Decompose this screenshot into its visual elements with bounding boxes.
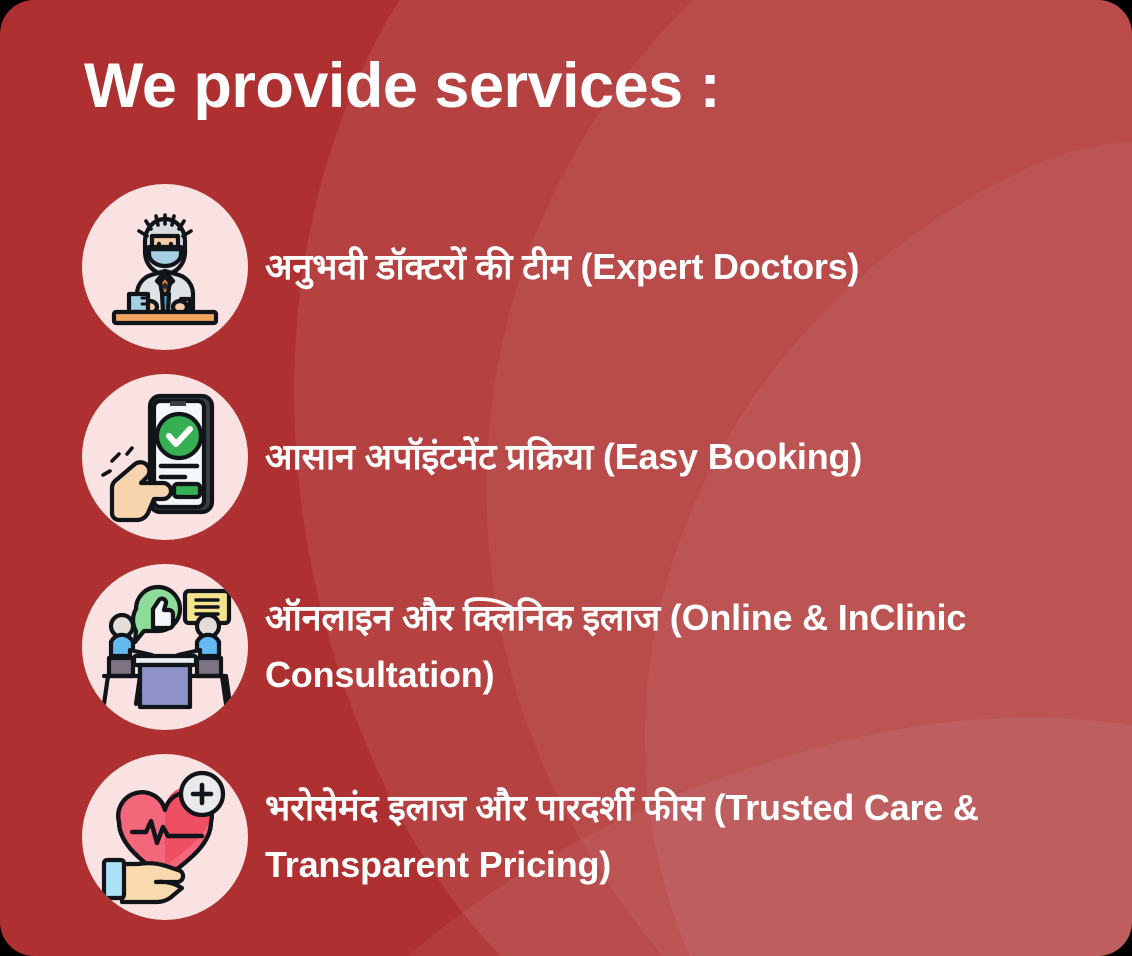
list-item-label: भरोसेमंद इलाज और पारदर्शी फीस (Trusted C… bbox=[265, 780, 1082, 894]
services-card: We provide services : bbox=[0, 0, 1132, 956]
list-item-label: अनुभवी डॉक्टरों की टीम (Expert Doctors) bbox=[265, 239, 1082, 296]
list-item: भरोसेमंद इलाज और पारदर्शी फीस (Trusted C… bbox=[82, 742, 1082, 932]
hand-holding-phone-check-icon bbox=[82, 374, 248, 540]
page-title: We provide services : bbox=[84, 50, 720, 122]
services-list: अनुभवी डॉक्टरों की टीम (Expert Doctors) bbox=[82, 172, 1082, 932]
list-item-label: ऑनलाइन और क्लिनिक इलाज (Online & InClini… bbox=[265, 590, 1082, 704]
list-item: ऑनलाइन और क्लिनिक इलाज (Online & InClini… bbox=[82, 552, 1082, 742]
card-content: We provide services : bbox=[0, 0, 1132, 956]
consultation-table-thumbsup-icon bbox=[82, 564, 248, 730]
hand-holding-heart-plus-icon bbox=[82, 754, 248, 920]
doctor-at-desk-icon bbox=[82, 184, 248, 350]
list-item: अनुभवी डॉक्टरों की टीम (Expert Doctors) bbox=[82, 172, 1082, 362]
list-item-label: आसान अपॉइंटमेंट प्रक्रिया (Easy Booking) bbox=[265, 429, 1082, 486]
list-item: आसान अपॉइंटमेंट प्रक्रिया (Easy Booking) bbox=[82, 362, 1082, 552]
